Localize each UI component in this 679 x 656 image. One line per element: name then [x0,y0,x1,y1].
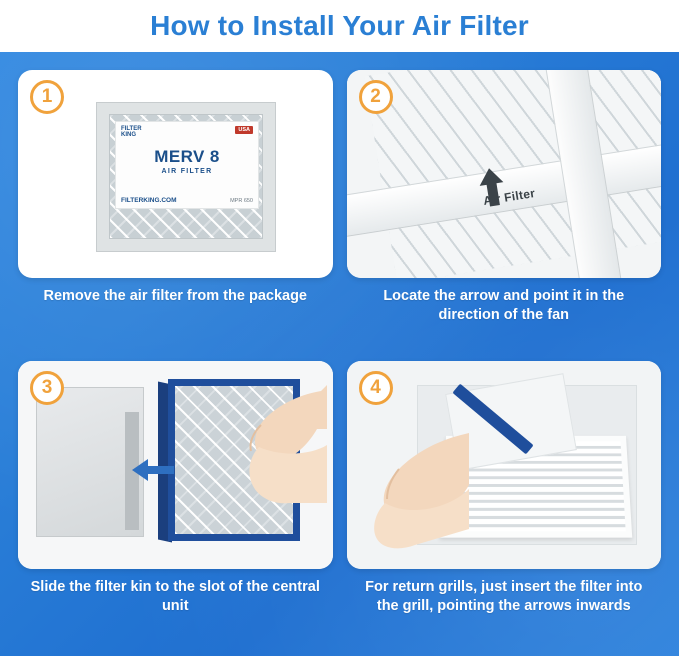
step-4-card: 4 [347,361,662,569]
hand-holding-filter [231,385,327,515]
step-1-badge: 1 [30,80,64,114]
step-3-card: 3 [18,361,333,569]
merv-rating: MERV 8 [154,147,219,167]
step-1-card: 1 FILTER KING USA MERV 8 [18,70,333,278]
brand-website: FILTERKING.COM [121,197,177,204]
air-filter-body: FILTER KING USA MERV 8 AIR FILTER FILTER… [96,102,276,252]
brand-name: FILTER KING [121,126,142,139]
step-2: 2 Air Filter Locate the arrow and point … [347,70,662,355]
filter-label-footer: FILTERKING.COM MPR 650 [121,197,253,204]
step-1: 1 FILTER KING USA MERV 8 [18,70,333,355]
step-2-card: 2 Air Filter [347,70,662,278]
filter-sliding-into-unit-photo [18,361,333,569]
boxed-air-filter-photo: FILTER KING USA MERV 8 AIR FILTER FILTER… [18,70,333,278]
step-3: 3 [18,361,333,646]
title-bar: How to Install Your Air Filter [0,0,679,52]
filter-label-subtitle: AIR FILTER [162,168,213,175]
page-title: How to Install Your Air Filter [150,10,529,42]
return-grill-install-photo [347,361,662,569]
hand-inserting-filter [365,433,469,551]
infographic-root: How to Install Your Air Filter 1 FILTER … [0,0,679,656]
left-arrow-icon [130,457,176,483]
step-3-caption: Slide the filter kin to the slot of the … [18,578,333,616]
central-unit-body [36,387,144,537]
step-4-badge: 4 [359,371,393,405]
step-1-caption: Remove the air filter from the package [32,287,320,306]
brand-line-2: KING [121,132,142,138]
usa-flag-badge: USA [235,126,253,134]
step-2-caption: Locate the arrow and point it in the dir… [347,287,662,325]
filter-frame-arrow-closeup-photo: Air Filter [347,70,662,278]
step-2-badge: 2 [359,80,393,114]
step-4: 4 For return grills, [347,361,662,646]
step-3-badge: 3 [30,371,64,405]
filter-label: FILTER KING USA MERV 8 AIR FILTER FILTER… [115,121,259,209]
steps-grid: 1 FILTER KING USA MERV 8 [0,52,679,656]
filter-label-brand-row: FILTER KING USA [116,122,258,139]
step-4-caption: For return grills, just insert the filte… [347,578,662,616]
mpr-code: MPR 650 [230,198,253,204]
